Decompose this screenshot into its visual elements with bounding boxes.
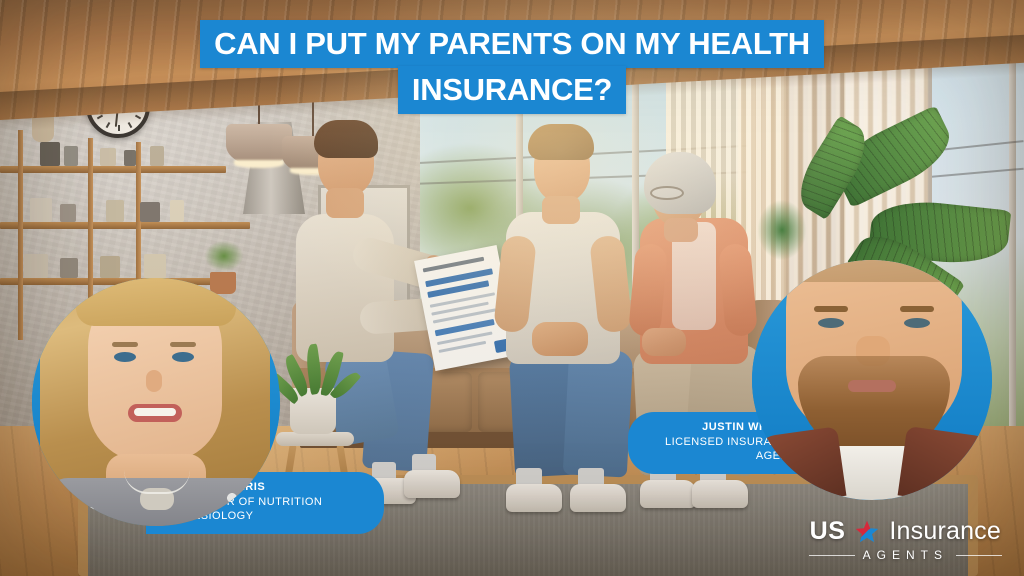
side-stool <box>276 432 354 446</box>
shoe <box>692 480 748 508</box>
hair <box>314 120 378 158</box>
shelf-object <box>60 204 76 222</box>
shirt-right <box>898 426 992 500</box>
headline-line-1: CAN I PUT MY PARENTS ON MY HEALTH <box>200 20 824 68</box>
wood-shelf <box>0 166 226 173</box>
eye <box>904 318 930 328</box>
shelf-post <box>18 130 23 340</box>
eye <box>818 318 844 328</box>
eyebrow <box>112 342 138 347</box>
shelf-object <box>64 146 78 166</box>
shelf-object <box>100 148 116 166</box>
hair <box>786 260 962 282</box>
star-icon <box>854 519 880 545</box>
lamp-glow <box>234 160 284 168</box>
logo-rule-right <box>956 555 1002 556</box>
nose <box>146 370 162 392</box>
shelf-object <box>144 254 166 278</box>
logo-us-text: US <box>810 517 846 546</box>
logo-rule-left <box>809 555 855 556</box>
wood-shelf <box>0 222 250 229</box>
avatar-melissa-morris <box>32 278 280 526</box>
eye <box>172 352 194 362</box>
neck <box>326 188 364 218</box>
avatar-photo <box>752 260 992 500</box>
eyebrow <box>170 342 196 347</box>
shoe <box>570 484 626 512</box>
hair-grey <box>644 152 716 214</box>
shelf-object <box>170 200 184 222</box>
mouth <box>848 380 896 392</box>
headline-line-2: INSURANCE? <box>398 66 626 114</box>
neck <box>664 218 698 242</box>
shelf-object <box>100 256 120 278</box>
logo-insurance-text: Insurance <box>889 517 1001 546</box>
shelf-object <box>150 146 164 166</box>
shelf-object <box>40 142 60 166</box>
eyebrow <box>814 306 848 312</box>
clasped-hands <box>532 322 588 356</box>
shirt-left <box>752 426 846 500</box>
torso-sweater <box>296 214 394 362</box>
teeth <box>134 408 176 416</box>
avatar-photo <box>32 278 280 526</box>
leg <box>563 348 634 477</box>
headline-banner: CAN I PUT MY PARENTS ON MY HEALTH INSURA… <box>0 20 1024 114</box>
shoe <box>506 484 562 512</box>
neck <box>542 196 580 224</box>
shoe <box>404 470 460 498</box>
shelf-object <box>30 198 52 222</box>
shelf-object <box>140 202 160 222</box>
avatar-justin-wright <box>752 260 992 500</box>
hair-front <box>76 278 236 326</box>
eye <box>114 352 136 362</box>
hand <box>642 328 686 356</box>
eyeglasses <box>650 186 684 200</box>
poster-canvas: CAN I PUT MY PARENTS ON MY HEALTH INSURA… <box>0 0 1024 576</box>
eyebrow <box>900 306 934 312</box>
shelf-object <box>124 150 136 166</box>
shoe <box>640 480 696 508</box>
shelf-object <box>24 254 48 278</box>
hair <box>528 124 594 160</box>
logo-agents-text: AGENTS <box>863 548 948 562</box>
shelf-object <box>106 200 124 222</box>
brand-logo[interactable]: US Insurance AGENTS <box>809 517 1002 562</box>
shelf-object <box>60 258 78 278</box>
